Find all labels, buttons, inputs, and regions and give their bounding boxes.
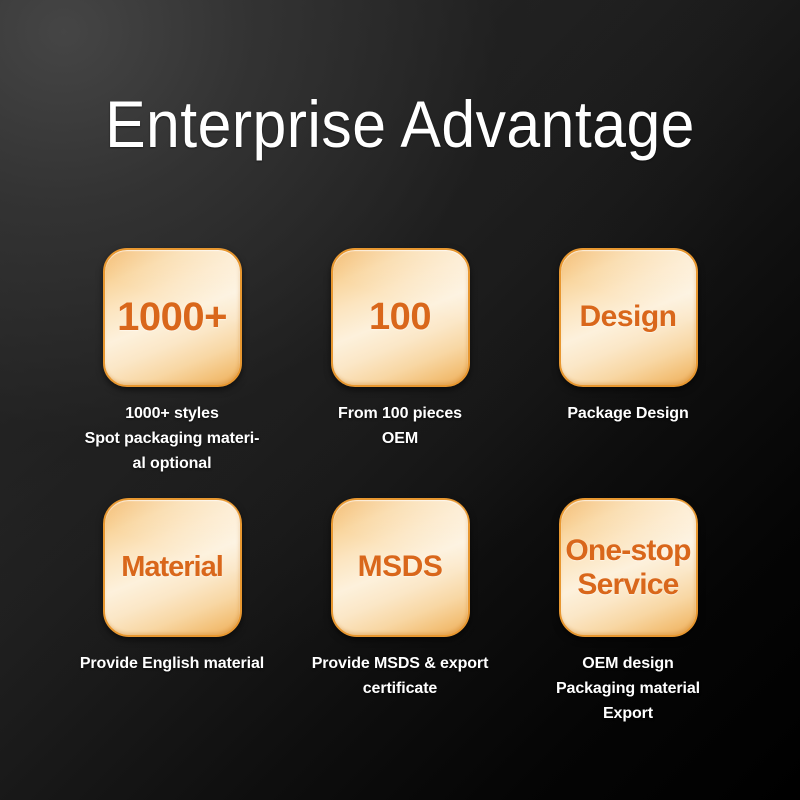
badge-tile-one-stop[interactable]: One-stop Service	[559, 498, 698, 637]
badge-label-one-stop: One-stop Service	[565, 534, 690, 601]
badge-label-moq: 100	[369, 298, 431, 337]
advantage-card-moq[interactable]: 100 From 100 pieces OEM	[286, 248, 514, 476]
caption-msds: Provide MSDS & export certificate	[312, 651, 489, 701]
badge-tile-styles[interactable]: 1000+	[103, 248, 242, 387]
badge-tile-design[interactable]: Design	[559, 248, 698, 387]
caption-moq: From 100 pieces OEM	[338, 401, 462, 451]
advantage-card-design[interactable]: Design Package Design	[514, 248, 742, 476]
badge-tile-msds[interactable]: MSDS	[331, 498, 470, 637]
badge-label-msds: MSDS	[358, 552, 443, 583]
advantage-card-material[interactable]: Material Provide English material	[58, 498, 286, 726]
page-title: Enterprise Advantage	[32, 88, 768, 160]
caption-styles: 1000+ styles Spot packaging materi- al o…	[85, 401, 260, 476]
badge-tile-material[interactable]: Material	[103, 498, 242, 637]
badge-label-styles: 1000+	[117, 297, 227, 338]
advantage-card-one-stop[interactable]: One-stop Service OEM design Packaging ma…	[514, 498, 742, 726]
advantage-card-grid: 1000+ 1000+ styles Spot packaging materi…	[0, 248, 800, 726]
caption-design: Package Design	[567, 401, 688, 426]
poster-canvas: Enterprise Advantage 1000+ 1000+ styles …	[0, 0, 800, 800]
badge-label-design: Design	[579, 302, 676, 333]
advantage-card-styles[interactable]: 1000+ 1000+ styles Spot packaging materi…	[58, 248, 286, 476]
badge-label-material: Material	[121, 553, 223, 583]
badge-tile-moq[interactable]: 100	[331, 248, 470, 387]
advantage-card-msds[interactable]: MSDS Provide MSDS & export certificate	[286, 498, 514, 726]
caption-material: Provide English material	[80, 651, 264, 676]
caption-one-stop: OEM design Packaging material Export	[556, 651, 700, 726]
